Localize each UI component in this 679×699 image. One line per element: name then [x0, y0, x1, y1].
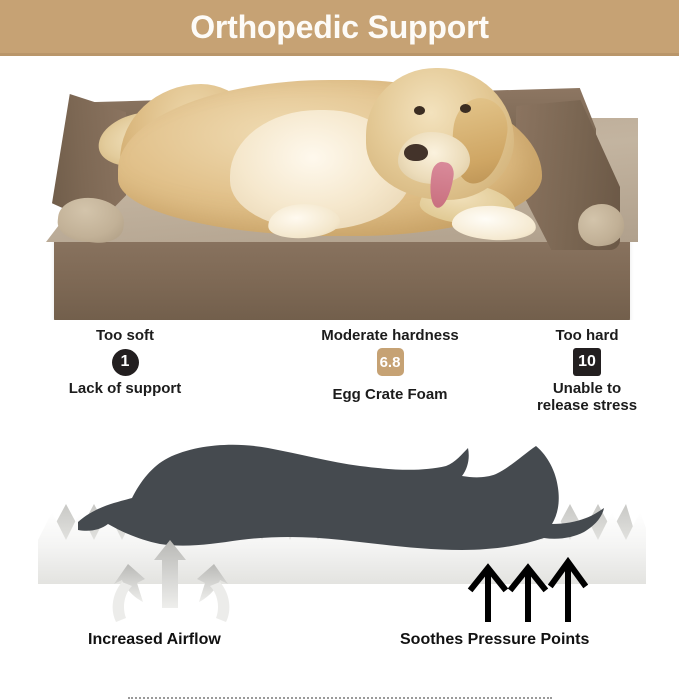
firmness-badge-row: 1 — [32, 347, 218, 377]
dog-bed-base — [54, 234, 630, 320]
firmness-badge-row: 10 — [502, 347, 672, 377]
firmness-stop-too-soft: Too soft 1 Lack of support — [32, 328, 218, 397]
firmness-stop-bottom-label-line2: release stress — [502, 397, 672, 414]
header-underline-divider — [0, 53, 679, 56]
firmness-stop-top-label: Too soft — [32, 328, 218, 344]
product-hero-photo — [0, 58, 679, 320]
airflow-swirl-left — [113, 582, 132, 622]
firmness-badge-10: 10 — [573, 348, 601, 376]
airflow-swirl-right — [210, 582, 229, 622]
firmness-stop-bottom-label: Unable to release stress — [502, 380, 672, 414]
firmness-stop-bottom-label: Lack of support — [32, 380, 218, 397]
dog-silhouette — [78, 445, 604, 550]
firmness-scale: Too soft 1 Lack of support Moderate hard… — [0, 328, 679, 428]
increased-airflow-label: Increased Airflow — [88, 631, 221, 649]
dog-eye-left — [414, 106, 425, 115]
dog-nose — [404, 144, 428, 161]
dog-eye-right — [460, 104, 471, 113]
firmness-badge-68: 6.8 — [377, 348, 404, 376]
pressure-arrows — [472, 562, 584, 622]
foam-cross-section-diagram — [0, 432, 679, 654]
firmness-stop-moderate: Moderate hardness 6.8 Egg Crate Foam — [293, 328, 487, 403]
page-title: Orthopedic Support — [190, 11, 489, 43]
firmness-stop-too-hard: Too hard 10 Unable to release stress — [502, 328, 672, 414]
firmness-stop-top-label: Too hard — [502, 328, 672, 344]
foam-diagram-svg — [0, 432, 679, 654]
firmness-stop-bottom-label: Egg Crate Foam — [293, 386, 487, 403]
firmness-stop-top-label: Moderate hardness — [293, 328, 487, 344]
firmness-badge-row: 6.8 — [293, 347, 487, 377]
header-banner: Orthopedic Support — [0, 0, 679, 56]
firmness-stop-bottom-label-line1: Unable to — [502, 380, 672, 397]
firmness-badge-1: 1 — [112, 349, 139, 376]
soothes-pressure-points-label: Soothes Pressure Points — [400, 631, 589, 649]
